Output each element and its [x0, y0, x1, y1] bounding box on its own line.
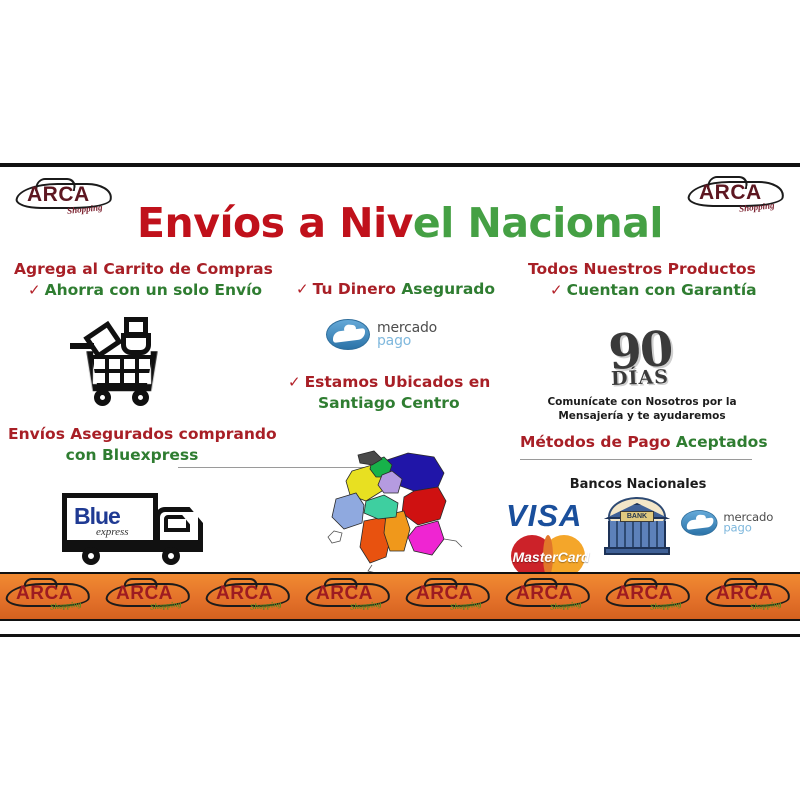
handshake-glyph — [687, 517, 714, 529]
bank-columns — [608, 521, 666, 549]
warranty-message-line2: Mensajería y te ayudaremos — [532, 409, 752, 423]
cart-handle — [70, 343, 94, 349]
arca-logo-strip: ARCAShopping — [700, 577, 800, 617]
title-part-red: Envíos a Niv — [137, 199, 413, 247]
visa-logo: VISA — [506, 498, 582, 534]
chile-region-map — [322, 447, 466, 577]
feature-cart: Agrega al Carrito de Compras ✓Ahorra con… — [14, 259, 254, 301]
page-title: Envíos a Nivel Nacional — [0, 199, 800, 247]
check-icon: ✓ — [550, 281, 563, 299]
arca-logo-strip: ARCAShopping — [400, 577, 500, 617]
handshake-glyph — [333, 328, 365, 343]
cart-wheel — [132, 389, 149, 406]
feature-location-line2: Santiago Centro — [288, 393, 500, 414]
arca-logo-strip: ARCAShopping — [300, 577, 400, 617]
region-map-svg — [322, 447, 466, 577]
arca-logo-strip: ARCAShopping — [100, 577, 200, 617]
banks-label: Bancos Nacionales — [520, 477, 756, 492]
map-region-6 — [408, 521, 444, 555]
mercado-pago-wordmark: mercado pago — [377, 322, 437, 348]
check-icon: ✓ — [296, 280, 309, 298]
cart-wheel — [94, 389, 111, 406]
bluexpress-truck-icon: Blue express — [62, 485, 216, 571]
arca-logo-strip: ARCAShopping — [0, 577, 100, 617]
map-region-2 — [402, 487, 446, 525]
warranty-days-unit: DÍAS — [586, 367, 695, 390]
shipping-line1: Envíos Asegurados comprando — [8, 424, 256, 445]
mastercard-logo: MasterCard — [503, 535, 599, 577]
shopping-cart-icon — [68, 315, 174, 407]
check-icon: ✓ — [288, 373, 301, 391]
feature-cart-line2: ✓Ahorra con un solo Envío — [14, 280, 254, 301]
feature-location-line1: ✓Estamos Ubicados en — [288, 372, 500, 393]
feature-location: ✓Estamos Ubicados en Santiago Centro — [288, 372, 500, 414]
arca-logo-strip: ARCAShopping — [600, 577, 700, 617]
feature-money-line1: ✓Tu Dinero Asegurado — [288, 279, 498, 300]
promotional-banner: ARCA Shopping ARCA Shopping Envíos a Niv… — [0, 163, 800, 637]
truck-wheel — [162, 547, 180, 565]
shipping-line2: con Bluexpress — [8, 445, 256, 466]
arca-logo-strip: ARCAShopping — [200, 577, 300, 617]
feature-products-line2: ✓Cuentan con Garantía — [528, 280, 750, 301]
bank-label: BANK — [620, 511, 654, 522]
feature-money: ✓Tu Dinero Asegurado — [288, 279, 498, 300]
handshake-icon — [326, 319, 370, 350]
mercado-pago-wordmark: mercado pago — [723, 512, 773, 534]
bluexpress-wordmark: Blue — [74, 505, 120, 527]
bluexpress-subword: express — [96, 526, 129, 538]
title-part-green: el Nacional — [413, 199, 663, 247]
check-icon: ✓ — [28, 281, 41, 299]
warranty-90-days-badge: 90 DÍAS — [586, 329, 694, 401]
payment-methods-heading: Métodos de Pago Aceptados — [520, 432, 756, 453]
mercado-pago-logo-center: mercado pago — [326, 319, 437, 350]
arca-logo-strip: ARCAShopping — [500, 577, 600, 617]
feature-shipping: Envíos Asegurados comprando con Bluexpre… — [8, 424, 256, 466]
bottom-brand-strip: ARCAShoppingARCAShoppingARCAShoppingARCA… — [0, 572, 800, 621]
map-coast-right — [444, 539, 462, 547]
bank-icon: BANK — [604, 495, 670, 557]
mastercard-wordmark: MasterCard — [503, 549, 599, 565]
feature-cart-line1: Agrega al Carrito de Compras — [14, 259, 254, 280]
warranty-message: Comunícate con Nosotros por la Mensajerí… — [532, 395, 752, 423]
map-island-left — [328, 531, 342, 543]
map-region-10 — [332, 493, 364, 529]
feature-products-line1: Todos Nuestros Productos — [528, 259, 750, 280]
truck-wheel — [82, 547, 100, 565]
handshake-icon — [681, 510, 718, 536]
mercado-pago-logo-payment: mercado pago — [681, 510, 773, 536]
divider-right — [520, 459, 752, 460]
bank-steps — [604, 547, 670, 555]
payment-heading: Métodos de Pago Aceptados — [520, 432, 756, 453]
feature-products: Todos Nuestros Productos ✓Cuentan con Ga… — [528, 259, 750, 301]
warranty-message-line1: Comunícate con Nosotros por la — [532, 395, 752, 409]
cart-basket-grid — [90, 355, 154, 388]
